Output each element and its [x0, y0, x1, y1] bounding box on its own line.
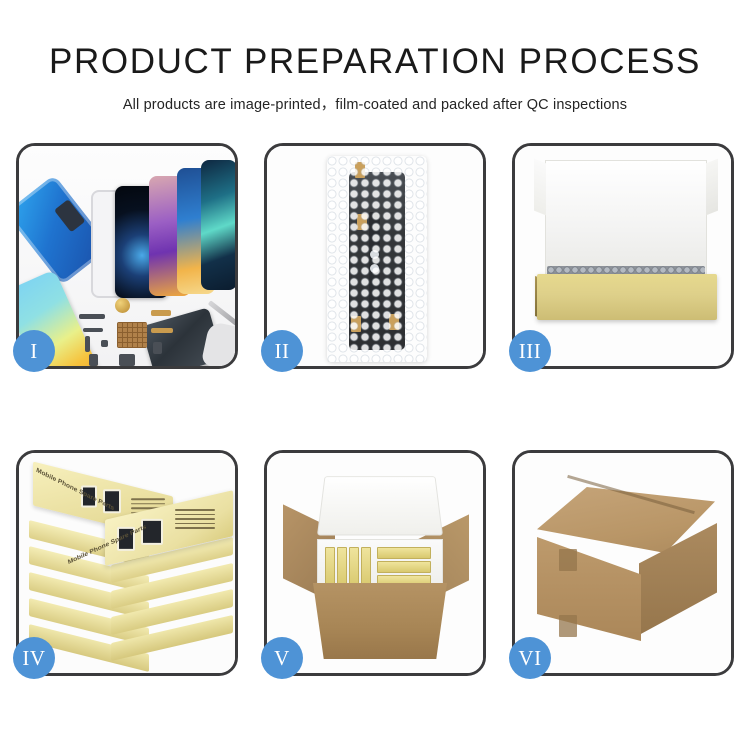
step-badge-5: V	[261, 637, 303, 679]
product-preparation-infographic: PRODUCT PREPARATION PROCESS All products…	[0, 0, 750, 750]
vibrator-motor	[119, 354, 135, 366]
process-step-5: V	[264, 450, 486, 676]
inner-box-scene	[515, 146, 731, 366]
step-1-image	[19, 146, 235, 366]
flex-cable	[369, 212, 380, 332]
speaker-component	[115, 298, 130, 313]
bubble-wrap-bag	[327, 156, 427, 362]
step-4-image: Mobile Phone Spare Parts Mobile Phone Sp…	[19, 453, 235, 673]
micro-chip	[101, 340, 108, 347]
camera-hole	[370, 250, 379, 259]
inner-box-4	[361, 547, 371, 587]
carton-tape-upper	[559, 549, 577, 571]
inner-box-3	[349, 547, 359, 587]
stacked-boxes-scene: Mobile Phone Spare Parts Mobile Phone Sp…	[19, 453, 235, 673]
box-spec-lines-2	[175, 509, 215, 532]
step-3-image	[515, 146, 731, 366]
header: PRODUCT PREPARATION PROCESS All products…	[0, 0, 750, 114]
kraft-box-tray	[537, 274, 717, 320]
tape-bottom-right	[389, 314, 399, 330]
carton-packing-scene	[267, 453, 483, 673]
step-5-image	[267, 453, 483, 673]
spare-parts-scene	[19, 146, 235, 366]
step-badge-3: III	[509, 330, 551, 372]
tape-mid	[357, 214, 367, 230]
component-strip	[79, 314, 105, 319]
tape-top	[355, 162, 365, 178]
carton-tape-lower	[559, 615, 577, 637]
process-step-1: I	[16, 143, 238, 369]
yellow-boxes-group	[323, 545, 437, 589]
step-badge-2: II	[261, 330, 303, 372]
connector-pin	[85, 336, 90, 352]
step-badge-6: VI	[509, 637, 551, 679]
inner-box-2	[337, 547, 347, 587]
box-lid-open	[545, 160, 707, 278]
gold-flex-cable	[151, 310, 171, 316]
bubble-wrap-scene	[267, 146, 483, 366]
teal-swirl-phone	[201, 160, 235, 290]
chip-grid-component	[117, 322, 147, 348]
step-badge-1: I	[13, 330, 55, 372]
step-2-image	[267, 146, 483, 366]
gold-contact-strip	[151, 328, 173, 333]
carton-front-face	[537, 537, 641, 641]
sim-tray	[89, 354, 98, 366]
sensor-hole	[370, 264, 379, 273]
process-step-grid: I	[16, 143, 735, 676]
carton-body	[313, 583, 447, 659]
process-step-2: II	[264, 143, 486, 369]
step-badge-4: IV	[13, 637, 55, 679]
camera-module	[153, 342, 162, 354]
process-step-4: Mobile Phone Spare Parts Mobile Phone Sp…	[16, 450, 238, 676]
sealed-carton-scene	[515, 453, 731, 673]
page-subtitle: All products are image-printed，film-coat…	[0, 93, 750, 114]
foam-lid-open	[317, 476, 443, 535]
inner-box-1	[325, 547, 335, 587]
flex-cable-left	[83, 328, 103, 332]
process-step-3: III	[512, 143, 734, 369]
small-components-group	[79, 296, 189, 366]
inner-box-6	[377, 561, 431, 573]
tape-bottom-left	[351, 316, 361, 332]
page-title: PRODUCT PREPARATION PROCESS	[0, 44, 750, 79]
step-6-image	[515, 453, 731, 673]
process-step-6: VI	[512, 450, 734, 676]
inner-box-5	[377, 547, 431, 559]
